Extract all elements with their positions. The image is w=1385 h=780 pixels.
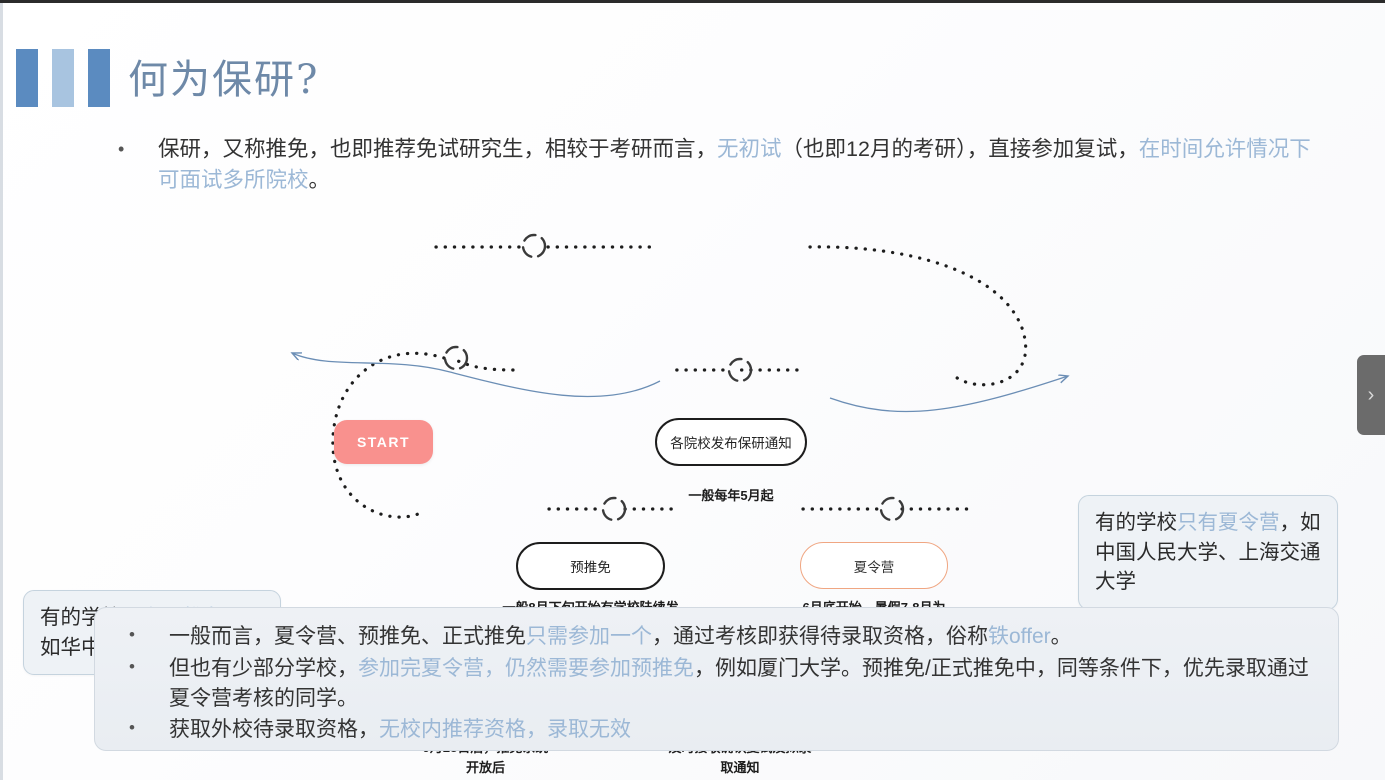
node-summer-camp[interactable]: 夏令营 (800, 542, 948, 589)
intro-seg-1: 保研，又称推免，也即推荐免试研究生，相较于考研而言， (158, 137, 717, 161)
row2-highlight-1: 参加完夏令营，仍然需要参加预推免 (358, 657, 694, 680)
node-start[interactable]: START (334, 420, 433, 464)
row1-seg-3: 。 (1051, 625, 1072, 648)
row1-highlight-2: 铁offer (988, 625, 1051, 648)
connector-notice-to-camp (810, 247, 1026, 385)
title-bar-1 (16, 49, 38, 107)
summary-row-2-text: 但也有少部分学校，参加完夏令营，仍然需要参加预推免，例如厦门大学。预推免/正式推… (169, 654, 1312, 714)
title-decoration-bars (16, 49, 110, 107)
path-marker-1 (523, 235, 545, 257)
callout-right-seg-1: 有的学校 (1095, 511, 1177, 534)
row1-seg-1: 一般而言，夏令营、预推免、正式推免 (169, 625, 526, 648)
intro-bullet-text: 保研，又称推免，也即推荐免试研究生，相较于考研而言，无初试（也即12月的考研），… (158, 134, 1318, 196)
bullet-marker: • (129, 716, 135, 740)
path-marker-4 (603, 498, 625, 520)
intro-bullet: • 保研，又称推免，也即推荐免试研究生，相较于考研而言，无初试（也即12月的考研… (118, 134, 1318, 196)
intro-highlight-1: 无初试 (717, 137, 782, 161)
node-yutui[interactable]: 预推免 (516, 542, 665, 590)
summary-row-1-text: 一般而言，夏令营、预推免、正式推免只需参加一个，通过考核即获得待录取资格，俗称铁… (169, 622, 1312, 652)
annotation-arrow-right (830, 376, 1068, 412)
intro-seg-2: （也即12月的考研），直接参加复试， (782, 137, 1139, 161)
title-bar-3 (88, 49, 110, 107)
bullet-marker: • (129, 623, 135, 647)
summary-row-2: • 但也有少部分学校，参加完夏令营，仍然需要参加预推免，例如厦门大学。预推免/正… (121, 654, 1312, 714)
callout-right-highlight: 只有夏令营 (1177, 511, 1280, 534)
caption-notice: 一般每年5月起 (655, 486, 807, 506)
presentation-slide: 何为保研? • 保研，又称推免，也即推荐免试研究生，相较于考研而言，无初试（也即… (0, 0, 1385, 780)
path-marker-5 (881, 498, 903, 520)
row3-seg-1: 获取外校待录取资格， (169, 718, 379, 741)
intro-seg-3: 。 (309, 168, 331, 192)
summary-row-3-text: 获取外校待录取资格，无校内推荐资格，录取无效 (169, 715, 1312, 745)
summary-row-1: • 一般而言，夏令营、预推免、正式推免只需参加一个，通过考核即获得待录取资格，俗… (121, 622, 1312, 652)
row3-highlight-1: 无校内推荐资格，录取无效 (379, 718, 631, 741)
callout-summer-camp-only: 有的学校只有夏令营，如中国人民大学、上海交通大学 (1078, 495, 1338, 610)
row1-seg-2: ，通过考核即获得待录取资格，俗称 (652, 625, 988, 648)
row1-highlight-1: 只需参加一个 (526, 625, 652, 648)
node-notice[interactable]: 各院校发布保研通知 (655, 418, 807, 466)
summary-row-3: • 获取外校待录取资格，无校内推荐资格，录取无效 (121, 715, 1312, 745)
chevron-right-icon: › (1368, 384, 1375, 407)
path-marker-3 (445, 347, 467, 369)
title-bar-2 (52, 49, 74, 107)
summary-box: • 一般而言，夏令营、预推免、正式推免只需参加一个，通过考核即获得待录取资格，俗… (94, 607, 1339, 751)
bullet-marker: • (129, 655, 135, 679)
page-title: 何为保研? (128, 47, 319, 105)
row2-seg-1: 但也有少部分学校， (169, 657, 358, 680)
panel-expand-tab[interactable]: › (1357, 355, 1385, 435)
flow-diagram: START 各院校发布保研通知 预推免 夏令营 正式推免复试 拟录取 FINIS… (0, 198, 1385, 598)
bullet-marker: • (118, 136, 124, 162)
